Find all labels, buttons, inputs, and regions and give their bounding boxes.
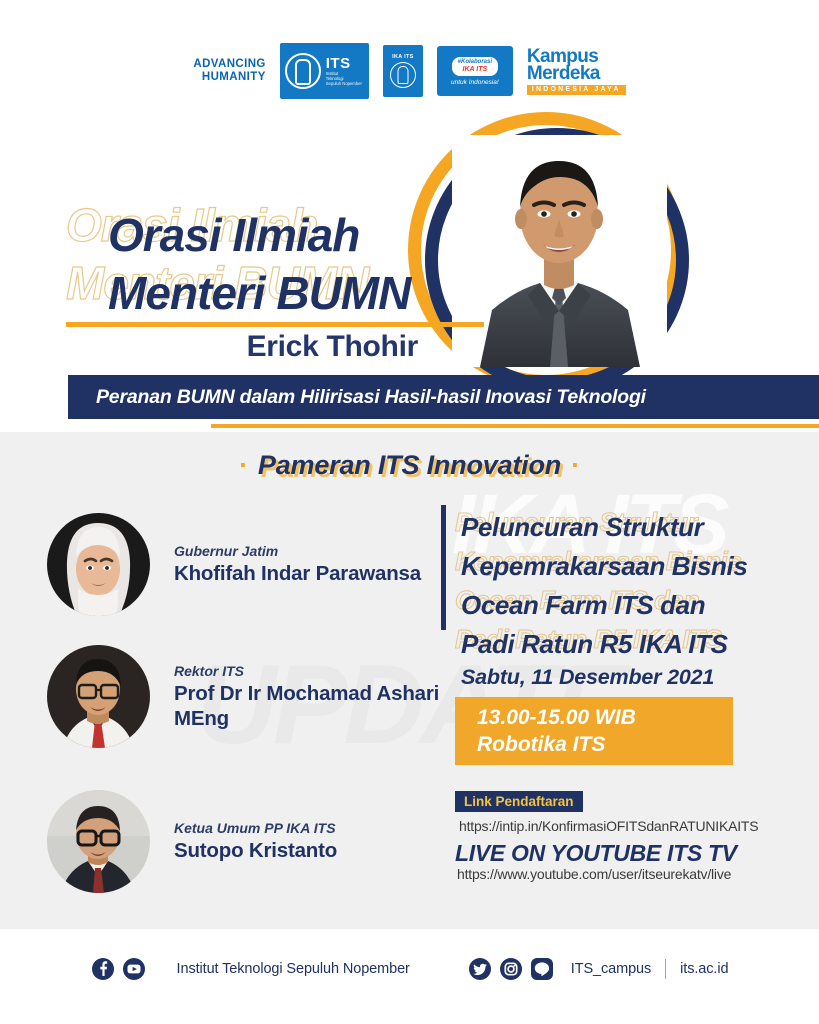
its-logo: ITS Institut Teknologi Sepuluh Nopember (280, 43, 369, 99)
registration-url-link[interactable]: https://intip.in/KonfirmasiOFITSdanRATUN… (459, 818, 758, 834)
logo-strip: ADVANCING HUMANITY ITS Institut Teknolog… (0, 40, 819, 102)
speaker-photo-sutopo (47, 790, 150, 893)
speaker-role-1: Gubernur Jatim (174, 543, 421, 559)
speaker-name-2: Prof Dr Ir Mochamad Ashari MEng (174, 681, 474, 731)
facebook-icon[interactable] (91, 957, 115, 981)
its-sub3: Sepuluh Nopember (326, 81, 362, 86)
kampus-merdeka-line1: Kampus (527, 48, 598, 65)
ika-seal-icon (390, 62, 416, 88)
speaker-role-3: Ketua Umum PP IKA ITS (174, 820, 337, 836)
live-youtube-label: LIVE ON YOUTUBE ITS TV (455, 840, 737, 867)
section-heading-inner: ·Pameran ITS Innovation· (239, 450, 580, 481)
event-time: 13.00-15.00 WIB (477, 704, 733, 731)
launch-title: Peluncuran Struktur Kepemrakarsaan Bisni… (461, 508, 811, 664)
hero-gold-rule (66, 322, 484, 327)
footer-social-group: ITS_campus its.ac.id (468, 957, 729, 981)
hero-topic-banner: Peranan BUMN dalam Hilirisasi Hasil-hasi… (68, 375, 819, 419)
speaker-name-1: Khofifah Indar Parawansa (174, 561, 421, 586)
kampus-merdeka-line2: Merdeka (527, 65, 600, 83)
event-time-box: 13.00-15.00 WIB Robotika ITS (455, 697, 733, 765)
kampus-merdeka-logo: Kampus Merdeka INDONESIA JAYA (527, 48, 626, 95)
its-mark: ITS (326, 56, 362, 71)
footer-institution-name: Institut Teknologi Sepuluh Nopember (177, 961, 410, 977)
section-dot-left: · (239, 450, 248, 480)
its-seal-icon (285, 53, 321, 89)
live-youtube-url-link[interactable]: https://www.youtube.com/user/itseurekatv… (457, 866, 731, 882)
its-wordmark: ITS Institut Teknologi Sepuluh Nopember (326, 56, 362, 86)
event-date: Sabtu, 11 Desember 2021 (461, 665, 714, 690)
kolaborasi-pill: #Kolaborasi IKA ITS (452, 57, 498, 76)
speaker-meta-3: Ketua Umum PP IKA ITS Sutopo Kristanto (174, 820, 337, 863)
section-dot-right: · (571, 450, 580, 480)
hero-topic-text: Peranan BUMN dalam Hilirisasi Hasil-hasi… (68, 386, 646, 409)
speaker-name-3: Sutopo Kristanto (174, 838, 337, 863)
kolaborasi-line1: #Kolaborasi (458, 59, 492, 66)
kampus-merdeka-tagline: INDONESIA JAYA (527, 85, 626, 95)
launch-accent-bar (441, 505, 446, 630)
speaker-row-2: Rektor ITS Prof Dr Ir Mochamad Ashari ME… (47, 645, 474, 748)
poster-root: ADVANCING HUMANITY ITS Institut Teknolog… (0, 0, 819, 1024)
speaker-meta-2: Rektor ITS Prof Dr Ir Mochamad Ashari ME… (174, 663, 474, 731)
hero-title: Orasi Ilmiah Menteri BUMN (108, 206, 528, 322)
youtube-icon[interactable] (122, 957, 146, 981)
advancing-humanity-line2: HUMANITY (193, 71, 265, 84)
speaker-row-3: Ketua Umum PP IKA ITS Sutopo Kristanto (47, 790, 337, 893)
footer-handle: ITS_campus (571, 961, 651, 977)
advancing-humanity-line1: ADVANCING (193, 58, 265, 71)
instagram-icon[interactable] (499, 957, 523, 981)
speaker-row-1: Gubernur Jatim Khofifah Indar Parawansa (47, 513, 421, 616)
advancing-humanity-logo: ADVANCING HUMANITY (193, 58, 265, 84)
ika-its-label: IKA ITS (392, 54, 413, 60)
speaker-role-2: Rektor ITS (174, 663, 474, 679)
footer-website[interactable]: its.ac.id (680, 961, 728, 977)
event-venue: Robotika ITS (477, 731, 733, 758)
footer-separator (665, 959, 666, 979)
section-heading-text: Pameran ITS Innovation (258, 450, 561, 480)
hero-speaker-name: Erick Thohir (0, 330, 418, 364)
speaker-photo-khofifah (47, 513, 150, 616)
speaker-meta-1: Gubernur Jatim Khofifah Indar Parawansa (174, 543, 421, 586)
hero-gold-underline (211, 424, 819, 428)
kolaborasi-sub: untuk Indonesia! (451, 79, 499, 86)
section-heading: ·Pameran ITS Innovation· (0, 450, 819, 481)
kolaborasi-ika-its-logo: #Kolaborasi IKA ITS untuk Indonesia! (437, 46, 513, 96)
footer-bar: Institut Teknologi Sepuluh Nopember (0, 947, 819, 991)
twitter-icon[interactable] (468, 957, 492, 981)
footer-facebook-group: Institut Teknologi Sepuluh Nopember (91, 957, 410, 981)
line-icon[interactable] (530, 957, 554, 981)
speaker-photo-ashari (47, 645, 150, 748)
ika-its-logo: IKA ITS (383, 45, 423, 97)
kolaborasi-line2: IKA ITS (458, 66, 492, 74)
registration-label-badge: Link Pendaftaran (455, 791, 583, 812)
